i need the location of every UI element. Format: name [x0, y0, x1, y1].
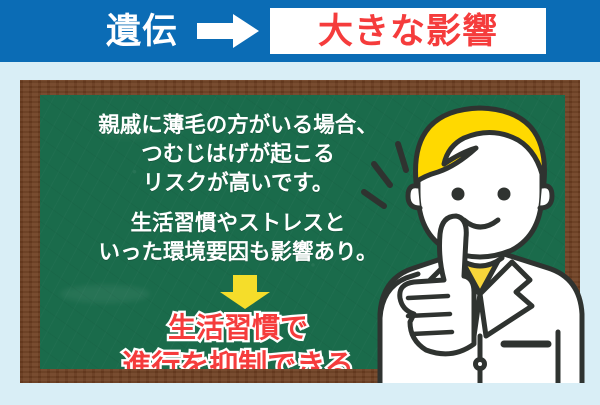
header-spacer [0, 62, 600, 80]
bottom-margin [0, 383, 600, 400]
down-arrow-icon [217, 275, 273, 309]
header-banner: 遺伝 大きな影響 [0, 0, 600, 62]
right-arrow-icon [197, 14, 259, 48]
header-right-label: 大きな影響 [318, 14, 498, 49]
infographic-canvas: 遺伝 大きな影響 親戚に薄毛の方がいる場合、 つむじはげが起こる リスクが高いで… [0, 0, 600, 400]
doctor-thumbs-up-illustration [352, 82, 600, 400]
left-margin [0, 62, 20, 400]
header-left-label: 遺伝 [92, 8, 192, 54]
header-impact-box: 大きな影響 [270, 8, 546, 54]
